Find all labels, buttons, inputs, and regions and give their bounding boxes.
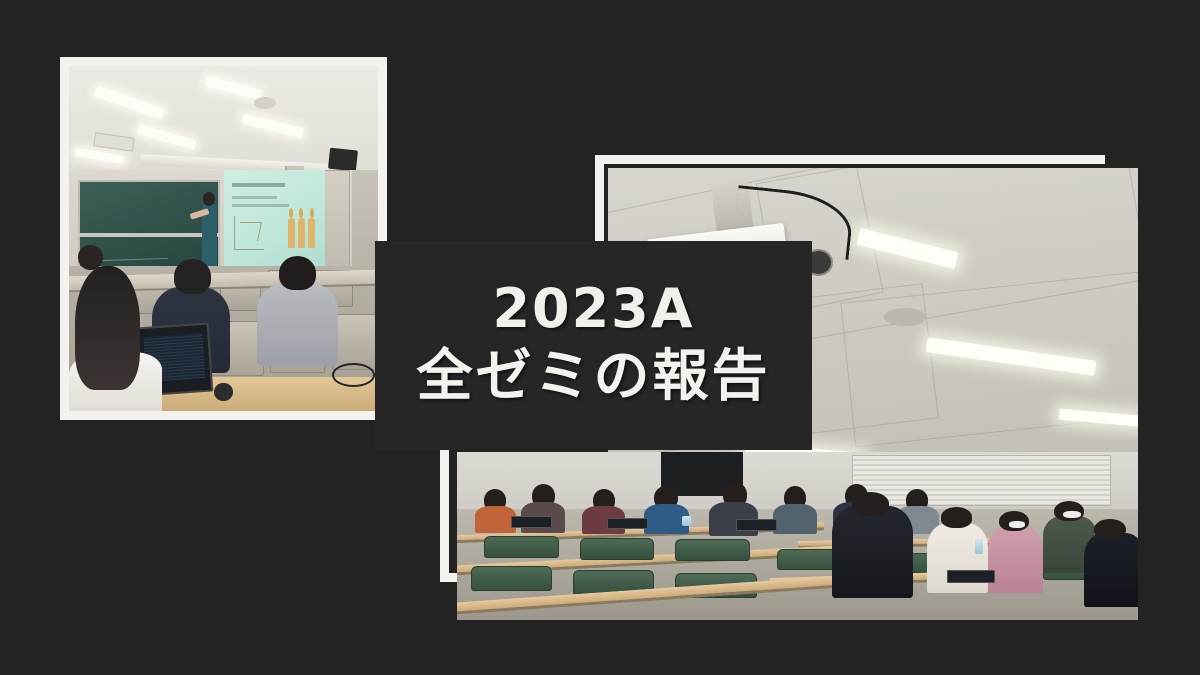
laptop	[511, 516, 552, 528]
student-body	[988, 526, 1042, 593]
student-head	[941, 507, 972, 527]
classroom-chair	[471, 566, 553, 591]
slide-title-bar	[232, 183, 285, 188]
photo-students-seminar	[457, 452, 1138, 620]
student-head	[75, 266, 140, 390]
water-bottle	[975, 539, 984, 554]
slide-diagram	[234, 216, 265, 250]
laptop	[736, 519, 777, 531]
slide-figure-icon	[288, 218, 295, 248]
student-body	[475, 506, 516, 533]
ceiling-speaker	[254, 97, 276, 109]
water-bottle	[682, 516, 691, 526]
laptop	[947, 570, 995, 583]
slide-figure-icon	[308, 218, 315, 248]
laptop	[607, 518, 648, 530]
student-head	[1094, 519, 1125, 539]
photo-lecture-presenter	[69, 66, 378, 411]
student-body	[1084, 533, 1138, 607]
student-head	[174, 259, 211, 294]
student-body	[257, 283, 337, 366]
student-body	[832, 506, 914, 598]
cables	[332, 363, 375, 387]
projector-icon	[328, 147, 358, 170]
title-line-year: 2023A	[492, 281, 694, 338]
slide-figure-icon	[298, 218, 305, 248]
classroom-chair	[484, 536, 559, 558]
face-mask	[1009, 521, 1025, 528]
student-head	[852, 492, 889, 516]
student-head	[279, 256, 316, 291]
slide-text-line	[232, 204, 289, 207]
lecture-seat	[332, 314, 378, 369]
title-panel: 2023A 全ゼミの報告	[375, 241, 812, 450]
photo-frame-students-left	[440, 440, 449, 582]
ceiling-speaker	[884, 308, 926, 326]
chalkboard-rail	[78, 233, 220, 237]
mouse	[214, 383, 233, 400]
slide-text-line	[232, 196, 277, 199]
presentation-slide: 2023A 全ゼミの報告	[0, 0, 1200, 675]
classroom-chair	[675, 539, 750, 561]
projection-screen-frame	[224, 170, 326, 270]
photo-frame-ceiling-top	[595, 155, 1105, 164]
projection-screen	[224, 170, 326, 270]
window-blinds	[852, 455, 1111, 505]
classroom-chair	[580, 538, 655, 560]
face-mask	[1063, 511, 1081, 519]
student-body	[773, 504, 817, 534]
title-line-main: 全ゼミの報告	[417, 343, 771, 410]
